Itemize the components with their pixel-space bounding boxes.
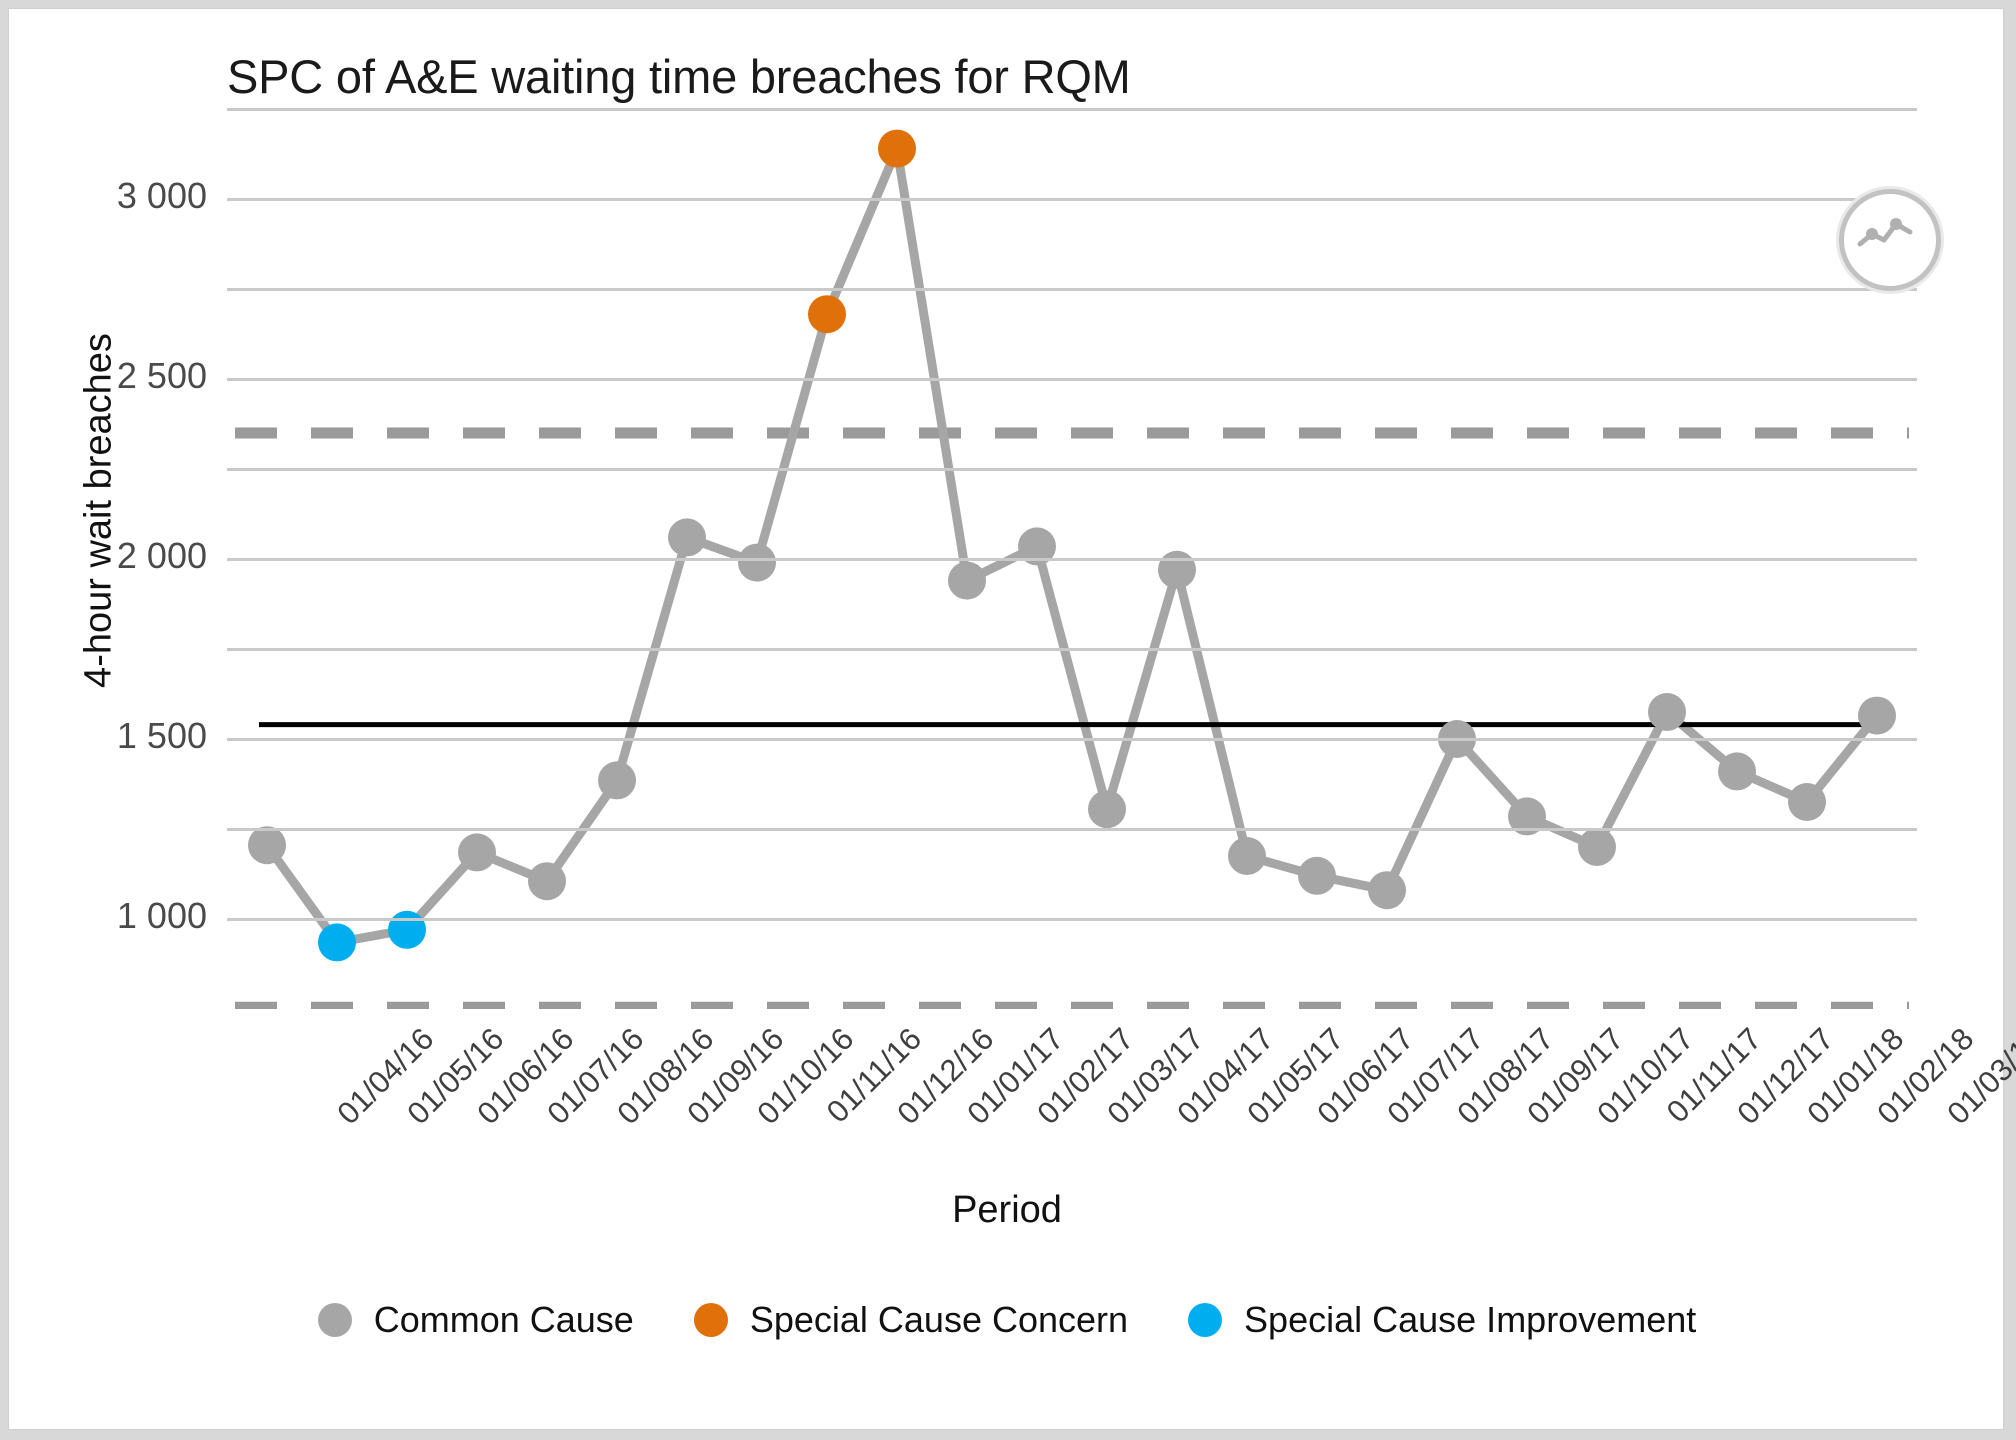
data-point-common[interactable] (248, 826, 286, 864)
y-tick-label: 3 000 (37, 175, 207, 217)
y-tick-label: 1 000 (37, 895, 207, 937)
data-point-common[interactable] (738, 544, 776, 582)
gridline (227, 108, 1917, 111)
legend-label: Common Cause (374, 1299, 634, 1341)
gridline (227, 378, 1917, 381)
data-point-concern[interactable] (808, 295, 846, 333)
data-point-common[interactable] (948, 562, 986, 600)
data-point-common[interactable] (598, 761, 636, 799)
gridline (227, 738, 1917, 741)
data-point-common[interactable] (458, 833, 496, 871)
data-point-common[interactable] (1228, 837, 1266, 875)
legend-label: Special Cause Concern (750, 1299, 1128, 1341)
plot-area: 1 0001 5002 0002 5003 000 01/04/1601/05/… (227, 109, 1917, 1009)
data-point-common[interactable] (528, 862, 566, 900)
legend-marker-icon (694, 1303, 728, 1337)
data-point-common[interactable] (1788, 783, 1826, 821)
data-point-concern[interactable] (878, 130, 916, 168)
legend-item[interactable]: Special Cause Concern (694, 1299, 1128, 1341)
spc-chart-icon (1839, 189, 1941, 291)
data-point-common[interactable] (668, 518, 706, 556)
legend-marker-icon (1188, 1303, 1222, 1337)
x-axis-label: Period (9, 1189, 2005, 1232)
data-point-common[interactable] (1158, 551, 1196, 589)
data-point-common[interactable] (1578, 828, 1616, 866)
chart-legend: Common CauseSpecial Cause ConcernSpecial… (9, 1299, 2005, 1341)
gridline (227, 198, 1917, 201)
y-tick-label: 1 500 (37, 715, 207, 757)
gridline (227, 918, 1917, 921)
y-tick-label: 2 500 (37, 355, 207, 397)
chart-canvas: SPC of A&E waiting time breaches for RQM… (8, 8, 2004, 1430)
gridline (227, 288, 1917, 291)
data-point-common[interactable] (1368, 871, 1406, 909)
data-point-improvement[interactable] (388, 911, 426, 949)
data-point-common[interactable] (1718, 752, 1756, 790)
data-point-common[interactable] (1648, 693, 1686, 731)
gridline (227, 558, 1917, 561)
data-line (267, 149, 1877, 943)
data-point-improvement[interactable] (318, 923, 356, 961)
legend-item[interactable]: Special Cause Improvement (1188, 1299, 1696, 1341)
legend-marker-icon (318, 1303, 352, 1337)
legend-label: Special Cause Improvement (1244, 1299, 1696, 1341)
gridline (227, 828, 1917, 831)
data-point-common[interactable] (1858, 697, 1896, 735)
chart-title: SPC of A&E waiting time breaches for RQM (227, 49, 1131, 104)
gridline (227, 648, 1917, 651)
legend-item[interactable]: Common Cause (318, 1299, 634, 1341)
data-point-common[interactable] (1088, 790, 1126, 828)
data-point-common[interactable] (1298, 857, 1336, 895)
y-tick-label: 2 000 (37, 535, 207, 577)
gridline (227, 468, 1917, 471)
